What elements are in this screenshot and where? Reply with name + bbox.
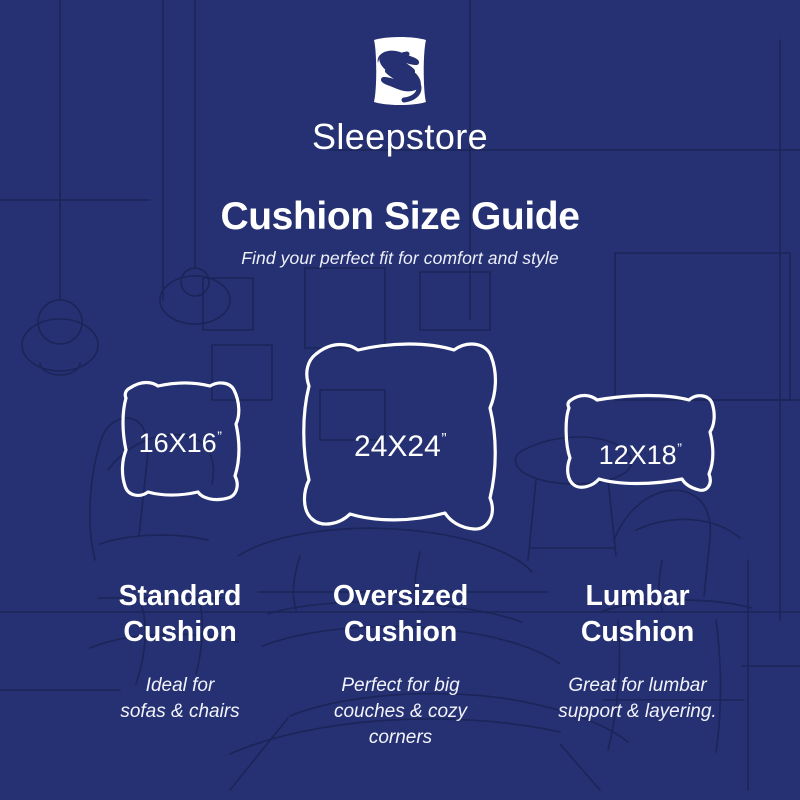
- size-value: 16X16: [139, 428, 217, 458]
- inch-mark-icon: ”: [677, 440, 682, 456]
- cushion-copy-oversized: Oversized Cushion Perfect for big couche…: [278, 578, 523, 750]
- cushion-size-label-standard: 16X16”: [139, 430, 222, 457]
- cushion-card-standard: 16X16”: [60, 330, 300, 560]
- inch-mark-icon: ”: [441, 431, 446, 448]
- pillow-with-hands-s-logo-icon: [0, 34, 800, 113]
- cushion-description-lumbar: Great for lumbar support & layering.: [510, 673, 765, 725]
- cushion-description-standard: Ideal for sofas & chairs: [55, 673, 305, 725]
- cushion-name-oversized: Oversized Cushion: [278, 578, 523, 651]
- cushion-copy-standard: Standard Cushion Ideal for sofas & chair…: [55, 578, 305, 725]
- cushion-card-lumbar: 12X18”: [520, 330, 760, 560]
- brand-name: Sleepstore: [0, 119, 800, 155]
- brand-logo-block: Sleepstore: [0, 34, 800, 155]
- cushion-card-oversized: 24X24”: [280, 330, 520, 560]
- size-value: 12X18: [599, 440, 677, 470]
- cushion-illustration-row: 16X16” 24X24” 12X18”: [0, 330, 800, 560]
- cushion-copy-lumbar: Lumbar Cushion Great for lumbar support …: [510, 578, 765, 725]
- page-subtitle: Find your perfect fit for comfort and st…: [0, 248, 800, 269]
- size-value: 24X24: [354, 430, 441, 463]
- inch-mark-icon: ”: [217, 428, 222, 444]
- cushion-size-guide-poster: Sleepstore Cushion Size Guide Find your …: [0, 0, 800, 800]
- page-title: Cushion Size Guide: [0, 196, 800, 239]
- cushion-size-label-lumbar: 12X18”: [599, 442, 682, 469]
- cushion-name-lumbar: Lumbar Cushion: [510, 578, 765, 651]
- cushion-name-standard: Standard Cushion: [55, 578, 305, 651]
- cushion-size-label-oversized: 24X24”: [354, 432, 446, 462]
- heading-block: Cushion Size Guide Find your perfect fit…: [0, 196, 800, 269]
- cushion-description-oversized: Perfect for big couches & cozy corners: [278, 673, 523, 750]
